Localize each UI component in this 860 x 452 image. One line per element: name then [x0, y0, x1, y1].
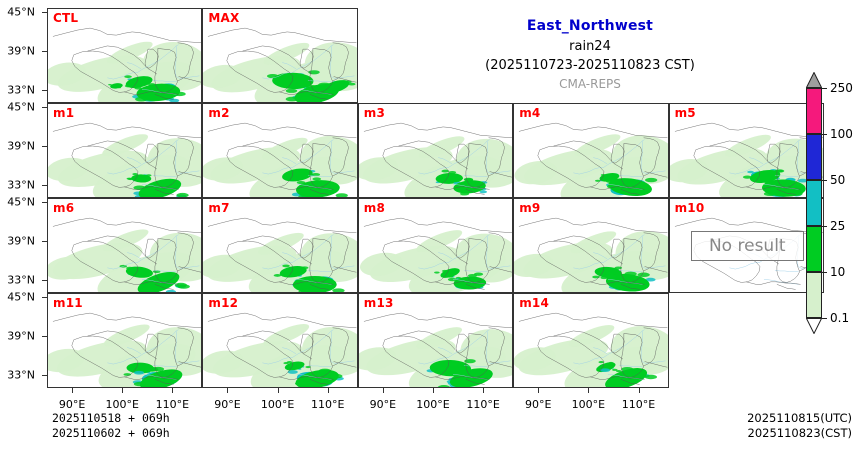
y-tick-label: 45°N [7, 5, 35, 18]
x-tick-mark [383, 388, 384, 393]
colorbar-over-cap [806, 72, 822, 88]
colorbar-tick-mark [822, 318, 827, 319]
x-tick-label: 110°E [466, 398, 499, 411]
panel-label-m8: m8 [364, 201, 385, 215]
y-tick-mark [42, 185, 47, 186]
colorbar-band [806, 180, 822, 226]
colorbar-tick-label: 0.1 [830, 311, 849, 325]
y-tick-mark [42, 12, 47, 13]
x-tick-label: 100°E [572, 398, 605, 411]
y-tick-label: 39°N [7, 234, 35, 247]
y-tick-mark [42, 51, 47, 52]
map-panel-m5[interactable]: m5 [669, 103, 824, 198]
colorbar-tick-mark [822, 88, 827, 89]
panel-label-ctl: CTL [53, 11, 78, 25]
valid-time-cst: 2025110823(CST) [748, 426, 853, 440]
x-tick-mark [227, 388, 228, 393]
valid-time-utc: 2025110815(UTC) [747, 411, 852, 425]
map-panel-m1[interactable]: m1 [47, 103, 202, 198]
x-axis-labels: 90°E100°E110°E90°E100°E110°E90°E100°E110… [0, 392, 860, 410]
colorbar-tick-label: 250 [830, 81, 853, 95]
y-tick-mark [42, 146, 47, 147]
x-tick-mark [328, 388, 329, 393]
colorbar-band [806, 88, 822, 134]
init-time-line-1: 2025110518 + 069h [52, 411, 170, 425]
panel-label-m13: m13 [364, 296, 394, 310]
y-axis-labels: 45°N39°N33°N45°N39°N33°N45°N39°N33°N45°N… [0, 0, 43, 452]
panel-label-max: MAX [208, 11, 239, 25]
y-tick-mark [42, 297, 47, 298]
y-tick-label: 45°N [7, 195, 35, 208]
y-tick-label: 45°N [7, 290, 35, 303]
x-tick-mark [483, 388, 484, 393]
x-tick-label: 100°E [105, 398, 138, 411]
panel-label-m4: m4 [519, 106, 540, 120]
y-tick-mark [42, 107, 47, 108]
map-panel-m10[interactable]: m10No result [669, 198, 824, 293]
panel-label-m3: m3 [364, 106, 385, 120]
y-tick-label: 39°N [7, 329, 35, 342]
y-tick-label: 39°N [7, 44, 35, 57]
colorbar-band [806, 226, 822, 272]
x-tick-mark [588, 388, 589, 393]
colorbar: 2501005025100.1 [806, 72, 822, 334]
x-tick-mark [278, 388, 279, 393]
x-tick-label: 110°E [622, 398, 655, 411]
x-tick-label: 90°E [214, 398, 240, 411]
x-tick-mark [172, 388, 173, 393]
y-tick-label: 45°N [7, 100, 35, 113]
y-tick-label: 33°N [7, 273, 35, 286]
map-panel-m4[interactable]: m4 [513, 103, 668, 198]
panel-label-m11: m11 [53, 296, 83, 310]
panel-label-m14: m14 [519, 296, 549, 310]
map-panel-m3[interactable]: m3 [358, 103, 513, 198]
y-tick-label: 33°N [7, 83, 35, 96]
footer-valid-times: 2025110815(UTC) 2025110823(CST) [747, 411, 852, 440]
y-tick-label: 33°N [7, 178, 35, 191]
map-panel-m2[interactable]: m2 [202, 103, 357, 198]
colorbar-tick-mark [822, 226, 827, 227]
panel-grid: CTLMAXm1m2m3m4m5m6m7m8m9m10No resultm11m… [47, 8, 785, 388]
x-tick-label: 110°E [156, 398, 189, 411]
colorbar-tick-label: 100 [830, 127, 853, 141]
colorbar-band [806, 272, 822, 318]
x-tick-mark [433, 388, 434, 393]
colorbar-tick-mark [822, 134, 827, 135]
x-tick-mark [639, 388, 640, 393]
map-panel-m13[interactable]: m13 [358, 293, 513, 388]
map-panel-ctl[interactable]: CTL [47, 8, 202, 103]
x-tick-mark [122, 388, 123, 393]
panel-label-m5: m5 [675, 106, 696, 120]
colorbar-tick-label: 10 [830, 265, 845, 279]
map-panel-m14[interactable]: m14 [513, 293, 668, 388]
x-tick-label: 100°E [261, 398, 294, 411]
x-tick-label: 100°E [416, 398, 449, 411]
no-result-box: No result [691, 231, 803, 261]
y-tick-mark [42, 375, 47, 376]
colorbar-tick-label: 50 [830, 173, 845, 187]
map-panel-max[interactable]: MAX [202, 8, 357, 103]
panel-label-m2: m2 [208, 106, 229, 120]
x-tick-mark [72, 388, 73, 393]
y-tick-label: 39°N [7, 139, 35, 152]
colorbar-tick-mark [822, 180, 827, 181]
map-panel-m9[interactable]: m9 [513, 198, 668, 293]
panel-label-m7: m7 [208, 201, 229, 215]
map-panel-m6[interactable]: m6 [47, 198, 202, 293]
x-tick-label: 90°E [525, 398, 551, 411]
panel-label-m12: m12 [208, 296, 238, 310]
colorbar-tick-mark [822, 272, 827, 273]
colorbar-under-cap [806, 318, 822, 334]
init-time-line-2: 2025110602 + 069h [52, 426, 170, 440]
x-tick-mark [538, 388, 539, 393]
y-tick-mark [42, 280, 47, 281]
panel-label-m9: m9 [519, 201, 540, 215]
panel-label-m1: m1 [53, 106, 74, 120]
map-panel-m11[interactable]: m11 [47, 293, 202, 388]
y-tick-mark [42, 241, 47, 242]
colorbar-tick-label: 25 [830, 219, 845, 233]
colorbar-band [806, 134, 822, 180]
x-tick-label: 110°E [311, 398, 344, 411]
map-panel-m8[interactable]: m8 [358, 198, 513, 293]
panel-label-m10: m10 [675, 201, 705, 215]
footer-init-times: 2025110518 + 069h 2025110602 + 069h [52, 411, 170, 440]
x-tick-label: 90°E [59, 398, 85, 411]
x-tick-label: 90°E [370, 398, 396, 411]
y-tick-mark [42, 202, 47, 203]
y-tick-mark [42, 90, 47, 91]
map-panel-m12[interactable]: m12 [202, 293, 357, 388]
y-tick-label: 33°N [7, 368, 35, 381]
map-panel-m7[interactable]: m7 [202, 198, 357, 293]
y-tick-mark [42, 336, 47, 337]
panel-label-m6: m6 [53, 201, 74, 215]
